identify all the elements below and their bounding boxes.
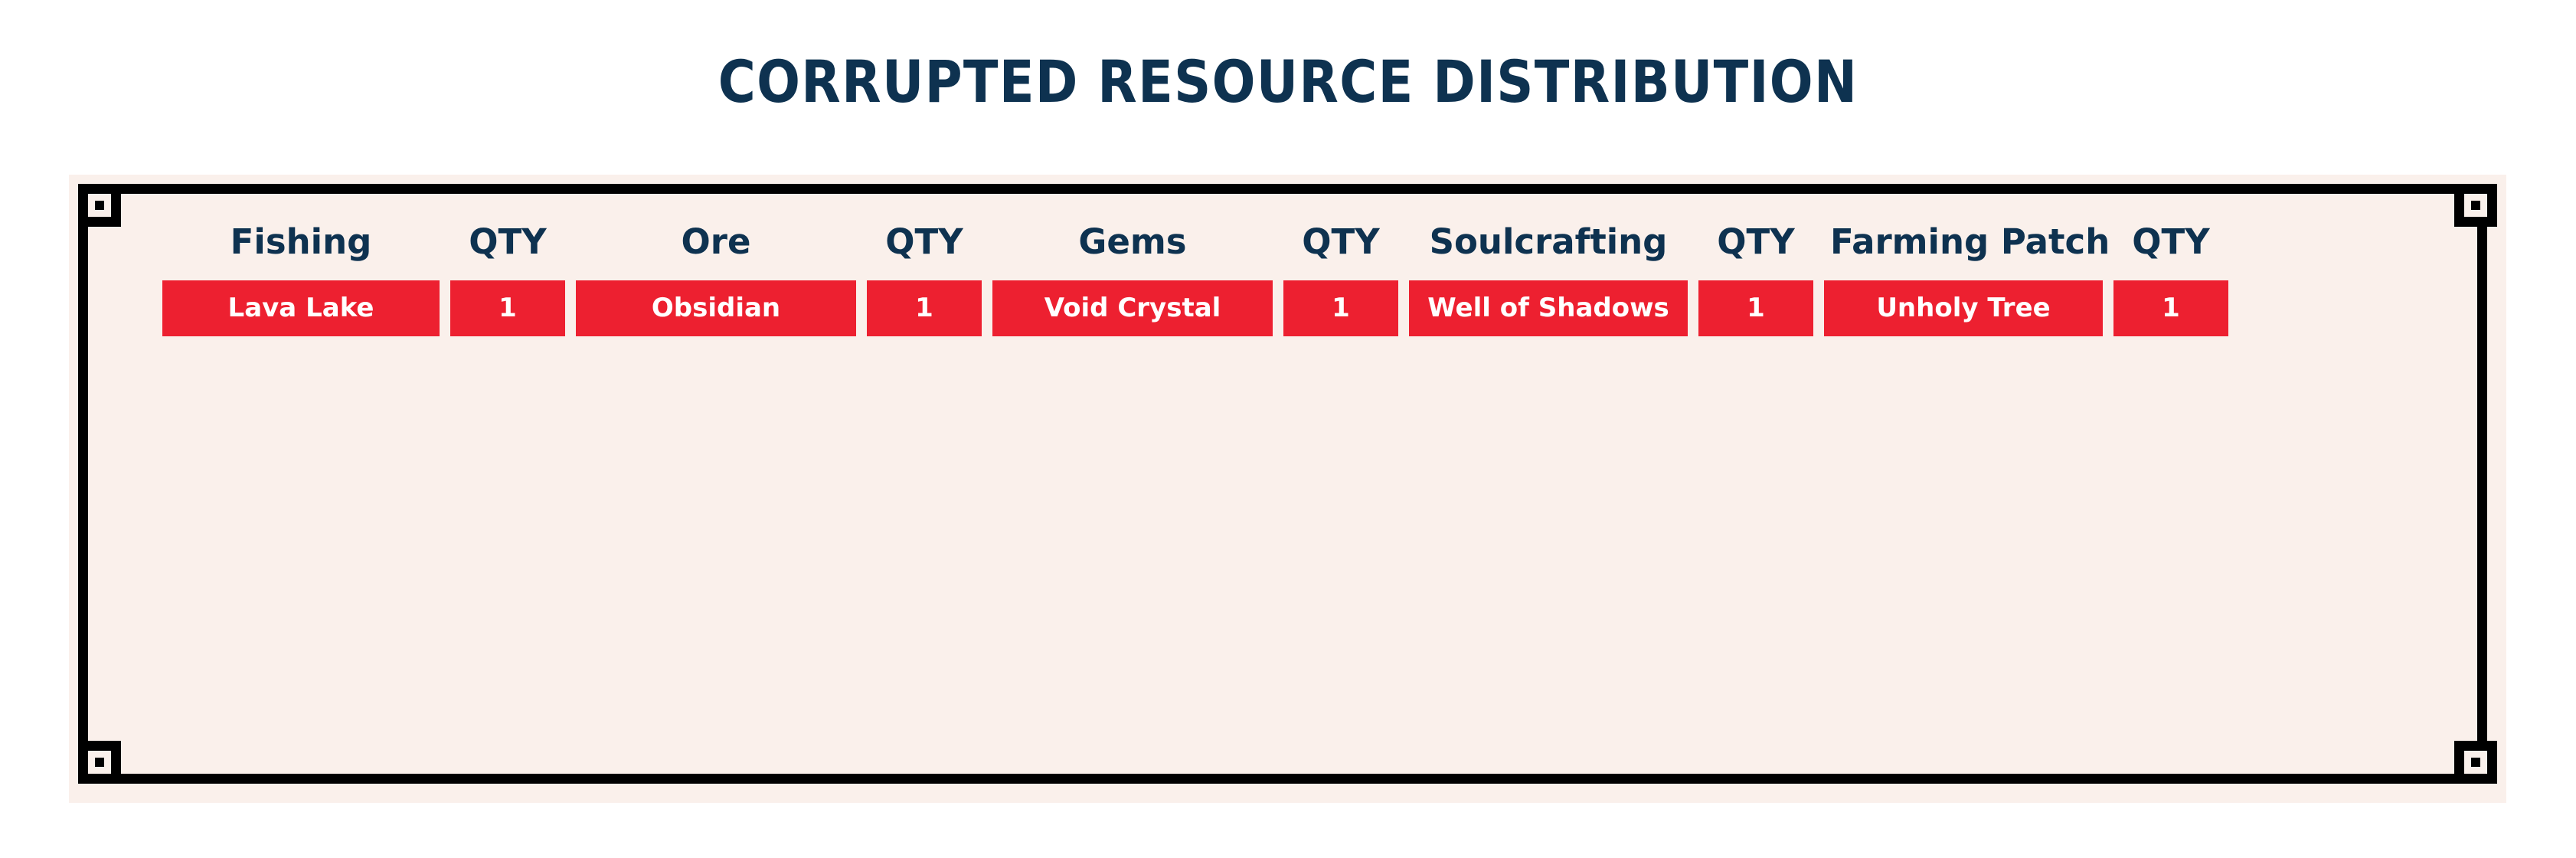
corner-marker-top-right [2454, 184, 2497, 227]
column-header: QTY [1283, 221, 1398, 264]
quantity-cell[interactable]: 1 [1283, 280, 1398, 336]
resource-distribution-table: FishingLava LakeQTY1OreObsidianQTY1GemsV… [162, 221, 2414, 336]
corner-marker-top-left [78, 184, 121, 227]
page-title: CORRUPTED RESOURCE DISTRIBUTION [155, 47, 2421, 116]
table-column-qty-1: QTY1 [450, 221, 565, 336]
resource-cell[interactable]: Unholy Tree [1824, 280, 2103, 336]
column-header: Gems [992, 221, 1273, 264]
resource-cell[interactable]: Obsidian [576, 280, 856, 336]
table-columns: FishingLava LakeQTY1OreObsidianQTY1GemsV… [162, 221, 2414, 336]
table-column-qty-3: QTY1 [867, 221, 982, 336]
table-column-qty-5: QTY1 [1283, 221, 1398, 336]
column-header: Farming Patch [1824, 221, 2103, 264]
column-header: QTY [1698, 221, 1813, 264]
resource-cell[interactable]: Lava Lake [162, 280, 440, 336]
quantity-cell[interactable]: 1 [2113, 280, 2228, 336]
resource-panel: FishingLava LakeQTY1OreObsidianQTY1GemsV… [69, 175, 2506, 803]
table-column-ore-2: OreObsidian [576, 221, 856, 336]
table-column-farming-patch-8: Farming PatchUnholy Tree [1824, 221, 2103, 336]
corner-marker-bottom-right [2454, 741, 2497, 784]
column-header: Fishing [162, 221, 440, 264]
quantity-cell[interactable]: 1 [867, 280, 982, 336]
column-header: Ore [576, 221, 856, 264]
table-column-fishing-0: FishingLava Lake [162, 221, 440, 336]
quantity-cell[interactable]: 1 [1698, 280, 1813, 336]
table-column-soulcrafting-6: SoulcraftingWell of Shadows [1409, 221, 1688, 336]
table-column-qty-7: QTY1 [1698, 221, 1813, 336]
quantity-cell[interactable]: 1 [450, 280, 565, 336]
table-column-gems-4: GemsVoid Crystal [992, 221, 1273, 336]
column-header: QTY [867, 221, 982, 264]
corner-marker-bottom-left [78, 741, 121, 784]
column-header: QTY [2113, 221, 2228, 264]
column-header: QTY [450, 221, 565, 264]
column-header: Soulcrafting [1409, 221, 1688, 264]
resource-cell[interactable]: Well of Shadows [1409, 280, 1688, 336]
resource-cell[interactable]: Void Crystal [992, 280, 1273, 336]
table-column-qty-9: QTY1 [2113, 221, 2228, 336]
